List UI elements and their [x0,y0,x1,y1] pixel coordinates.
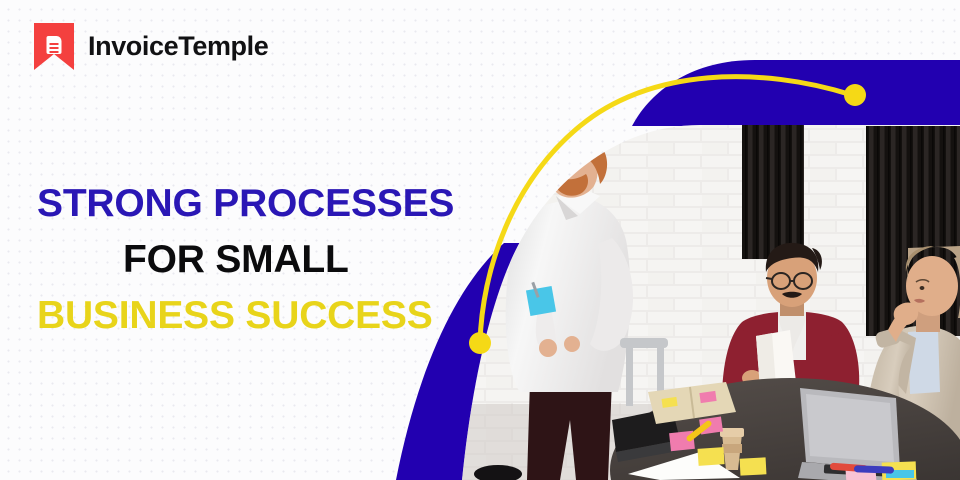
sticky-note-yellow [740,457,767,475]
bookmark-document-icon [34,23,74,70]
brand-logo[interactable]: InvoiceTemple [34,23,268,70]
blue-top-shape [632,60,960,126]
team-meeting-photo [440,120,960,480]
headline-line-2: FOR SMALL [37,232,454,288]
promo-banner: InvoiceTemple STRONG PROCESSES FOR SMALL… [0,0,960,480]
headline-block: STRONG PROCESSES FOR SMALL BUSINESS SUCC… [37,176,454,344]
headline-line-1: STRONG PROCESSES [37,176,454,232]
yellow-dot-lower [469,332,491,354]
sticky-note-yellow [697,447,724,466]
brand-wordmark: InvoiceTemple [88,31,268,62]
yellow-dot-upper [844,84,866,106]
headline-line-3: BUSINESS SUCCESS [37,288,454,344]
